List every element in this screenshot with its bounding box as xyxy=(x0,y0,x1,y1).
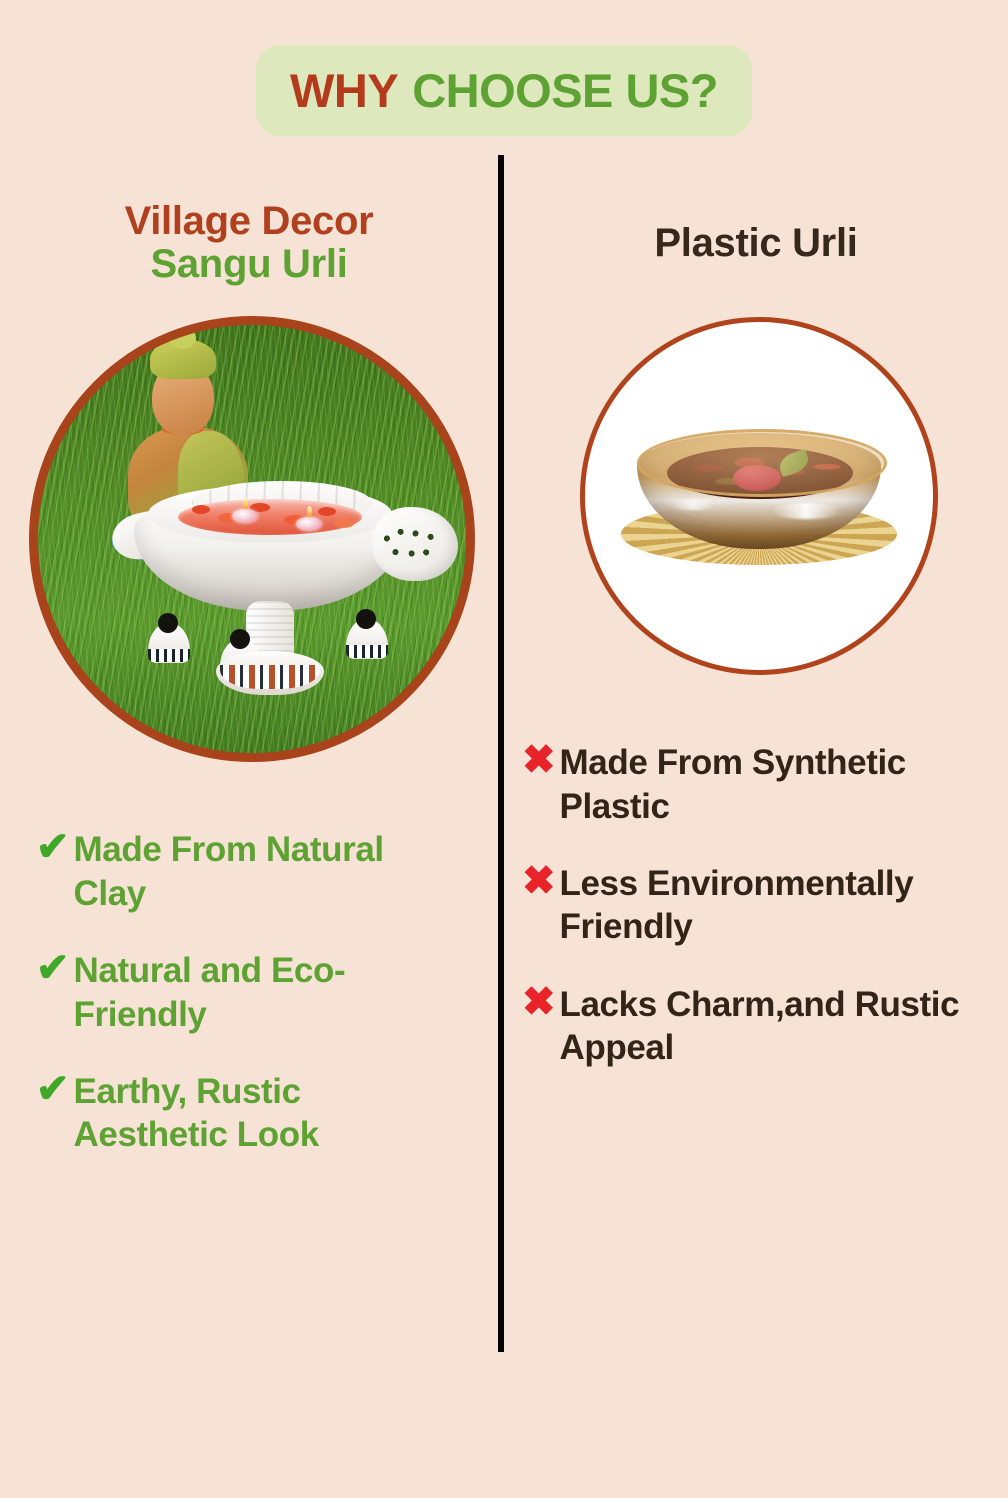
header-banner: WHY CHOOSE US? xyxy=(256,45,752,136)
right-feature-list: ✖ Made From Synthetic Plastic ✖ Less Env… xyxy=(522,741,962,1069)
cross-icon: ✖ xyxy=(522,862,556,901)
left-feature-list: ✔ Made From Natural Clay ✔ Natural and E… xyxy=(36,828,436,1156)
cross-icon: ✖ xyxy=(522,741,556,780)
right-heading-product: Plastic Urli xyxy=(504,200,1008,265)
cross-icon: ✖ xyxy=(522,983,556,1022)
list-item: ✖ Less Environmentally Friendly xyxy=(522,862,962,949)
header-title-why: WHY xyxy=(290,67,398,114)
sangu-urli-photo xyxy=(29,316,475,762)
left-heading-brand: Village Decor xyxy=(0,200,498,243)
feature-label: Made From Natural Clay xyxy=(74,828,436,915)
list-item: ✔ Made From Natural Clay xyxy=(36,828,436,915)
check-icon: ✔ xyxy=(36,828,70,867)
header-title-choose-us: CHOOSE US? xyxy=(412,67,718,114)
left-heading-product: Sangu Urli xyxy=(0,243,498,286)
list-item: ✔ Natural and Eco-Friendly xyxy=(36,949,436,1036)
feature-label: Earthy, Rustic Aesthetic Look xyxy=(74,1070,436,1157)
check-icon: ✔ xyxy=(36,949,70,988)
feature-label: Lacks Charm,and Rustic Appeal xyxy=(560,983,962,1070)
list-item: ✔ Earthy, Rustic Aesthetic Look xyxy=(36,1070,436,1157)
left-image-wrapper xyxy=(0,316,498,762)
comparison-column-right: Plastic Urli ✖ Made From Synthetic Plast… xyxy=(504,155,1008,1104)
feature-label: Less Environmentally Friendly xyxy=(560,862,962,949)
feature-label: Natural and Eco-Friendly xyxy=(74,949,436,1036)
conch-urli-graphic xyxy=(134,473,434,713)
check-icon: ✔ xyxy=(36,1070,70,1109)
list-item: ✖ Lacks Charm,and Rustic Appeal xyxy=(522,983,962,1070)
plastic-bowl-graphic xyxy=(621,421,897,571)
feature-label: Made From Synthetic Plastic xyxy=(560,741,962,828)
left-column-heading: Village Decor Sangu Urli xyxy=(0,155,498,286)
plastic-urli-photo xyxy=(580,317,938,675)
comparison-column-left: Village Decor Sangu Urli xyxy=(0,155,498,1191)
right-column-heading: Plastic Urli xyxy=(504,155,1008,265)
list-item: ✖ Made From Synthetic Plastic xyxy=(522,741,962,828)
right-image-wrapper xyxy=(504,295,1008,675)
